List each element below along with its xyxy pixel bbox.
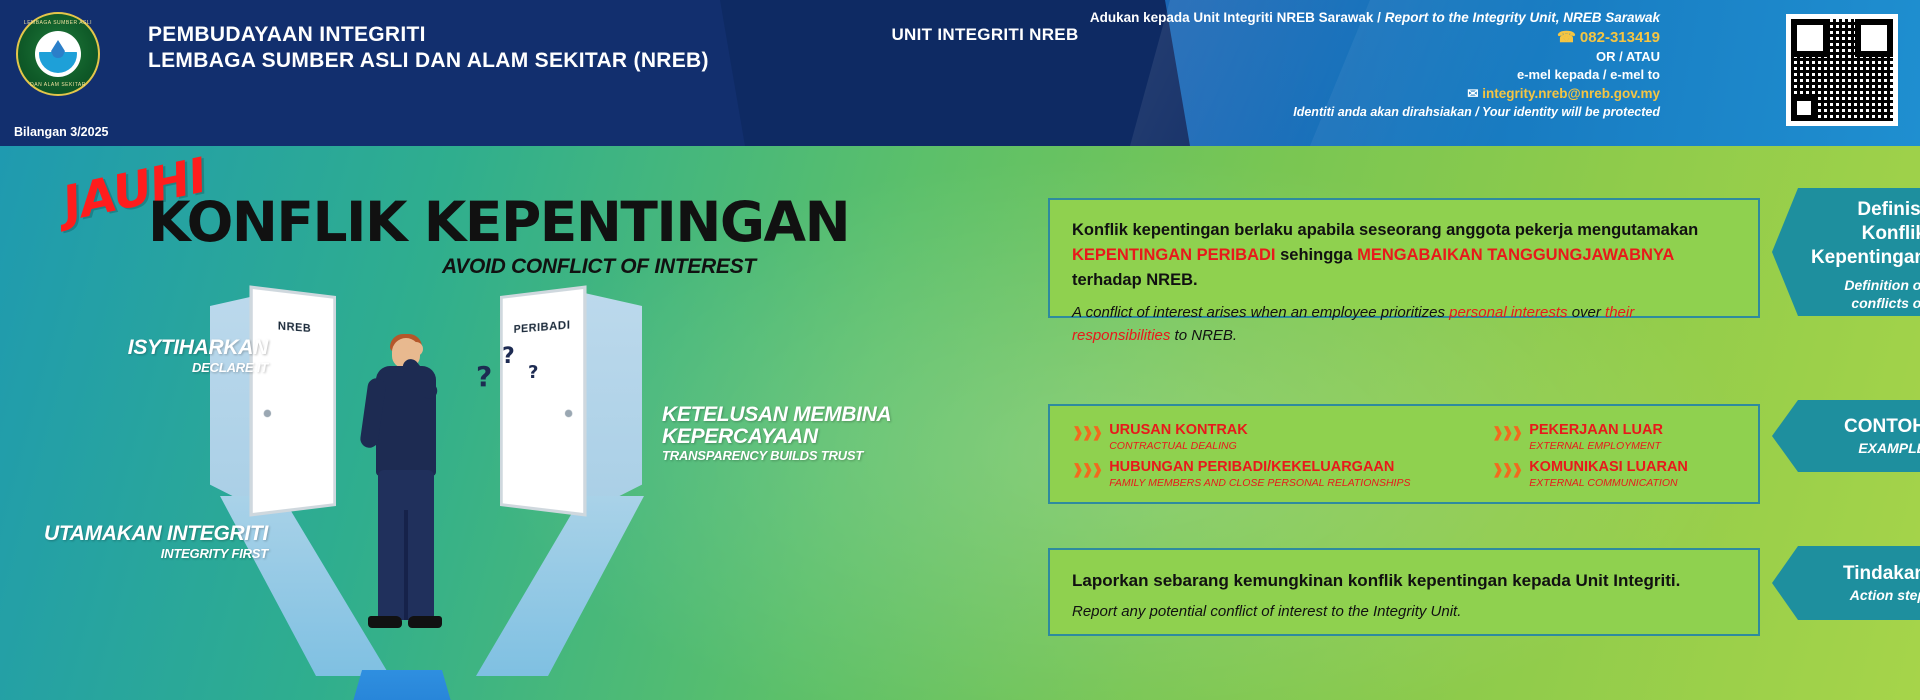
label-declare: ISYTIHARKAN DECLARE IT <box>108 336 268 375</box>
hero-title-my: KONFLIK KEPENTINGAN <box>148 190 849 254</box>
label-integrity-first: UTAMAKAN INTEGRITI INTEGRITY FIRST <box>36 522 268 561</box>
phone-icon: ☎ <box>1557 29 1576 46</box>
definition-text: Konflik kepentingan berlaku apabila sese… <box>1050 200 1758 365</box>
header-title-line2: LEMBAGA SUMBER ASLI DAN ALAM SEKITAR (NR… <box>148 48 709 74</box>
logo-inner-emblem <box>35 31 81 77</box>
header-bar: LEMBAGA SUMBER ASLI DAN ALAM SEKITAR PEM… <box>0 0 1920 146</box>
report-line: Adukan kepada Unit Integriti NREB Sarawa… <box>1040 8 1660 27</box>
question-mark-2: ? <box>502 344 515 369</box>
contact-block: Adukan kepada Unit Integriti NREB Sarawa… <box>1040 8 1660 121</box>
definition-my-part3: terhadap NREB. <box>1072 271 1198 289</box>
definition-en-highlight1: personal interests <box>1449 304 1567 321</box>
report-label-my: Adukan kepada Unit Integriti NREB Sarawa… <box>1090 10 1381 25</box>
header-title-line1: PEMBUDAYAAN INTEGRITI <box>148 22 709 48</box>
email-label: e-mel kepada / e-mel to <box>1040 66 1660 84</box>
definition-en-part3: to NREB. <box>1170 327 1237 344</box>
qr-finder-bottom-left <box>1791 95 1817 121</box>
tab-example-en: EXAMPLE <box>1806 439 1920 457</box>
label-integrity-first-my: UTAMAKAN INTEGRITI <box>36 522 268 546</box>
qr-code[interactable] <box>1786 14 1898 126</box>
header-title-group: PEMBUDAYAAN INTEGRITI LEMBAGA SUMBER ASL… <box>148 22 709 74</box>
example-item-4-my: KOMUNIKASI LUARAN <box>1529 459 1688 476</box>
definition-en-part1: A conflict of interest arises when an em… <box>1072 304 1449 321</box>
phone-line[interactable]: ☎ 082-313419 <box>1040 27 1660 48</box>
door-panel-right <box>580 292 642 516</box>
examples-grid: ❱❱❱ URUSAN KONTRAK CONTRACTUAL DEALING ❱… <box>1050 406 1758 490</box>
door-peribadi: PERIBADI <box>500 285 587 516</box>
definition-my-part2: sehingga <box>1276 246 1358 264</box>
chevrons-icon: ❱❱❱ <box>1072 422 1101 440</box>
label-transparency: KETELUSAN MEMBINA KEPERCAYAAN TRANSPAREN… <box>662 404 922 463</box>
tab-example: CONTOH EXAMPLE <box>1772 400 1920 472</box>
definition-my-part1: Konflik kepentingan berlaku apabila sese… <box>1072 221 1698 239</box>
confidentiality-note: Identiti anda akan dirahsiakan / Your id… <box>1040 103 1660 121</box>
label-transparency-en: TRANSPARENCY BUILDS TRUST <box>662 448 922 463</box>
tab-action-my: Tindakan <box>1806 562 1920 586</box>
water-drop-icon <box>51 40 65 58</box>
door-label-peribadi: PERIBADI <box>503 318 583 337</box>
report-label-en: Report to the Integrity Unit, NREB Saraw… <box>1385 10 1660 25</box>
definition-my-highlight2: MENGABAIKAN TANGGUNGJAWABNYA <box>1357 246 1674 264</box>
definition-my: Konflik kepentingan berlaku apabila sese… <box>1072 218 1736 293</box>
example-item-3-en: FAMILY MEMBERS AND CLOSE PERSONAL RELATI… <box>1109 476 1410 490</box>
door-label-nreb: NREB <box>253 318 333 337</box>
hero-title-en: AVOID CONFLICT OF INTEREST <box>442 255 756 279</box>
definition-my-highlight1: KEPENTINGAN PERIBADI <box>1072 246 1276 264</box>
envelope-icon: ✉ <box>1467 86 1478 101</box>
tab-action: Tindakan Action step <box>1772 546 1920 620</box>
examples-box: ❱❱❱ URUSAN KONTRAK CONTRACTUAL DEALING ❱… <box>1048 404 1760 504</box>
label-declare-my: ISYTIHARKAN <box>108 336 268 360</box>
qr-code-pattern <box>1791 19 1893 121</box>
door-knob-right-icon <box>565 410 572 418</box>
question-mark-3: ? <box>528 362 538 383</box>
example-item-2-en: EXTERNAL EMPLOYMENT <box>1529 439 1663 453</box>
person-legs <box>378 470 434 620</box>
poster-root: LEMBAGA SUMBER ASLI DAN ALAM SEKITAR PEM… <box>0 0 1920 700</box>
example-item-3: ❱❱❱ HUBUNGAN PERIBADI/KEKELUARGAAN FAMIL… <box>1072 459 1472 490</box>
chevrons-icon: ❱❱❱ <box>1492 459 1521 477</box>
example-item-4-texts: KOMUNIKASI LUARAN EXTERNAL COMMUNICATION <box>1529 459 1688 490</box>
phone-number: 082-313419 <box>1580 29 1660 46</box>
label-declare-en: DECLARE IT <box>108 360 268 375</box>
issue-number: Bilangan 3/2025 <box>14 125 109 139</box>
person-figure: ? ? ? <box>350 338 460 658</box>
example-item-1-texts: URUSAN KONTRAK CONTRACTUAL DEALING <box>1109 422 1248 453</box>
tab-definition-my: Definisi Konflik Kepentingan <box>1806 198 1920 270</box>
nreb-logo: LEMBAGA SUMBER ASLI DAN ALAM SEKITAR <box>16 12 100 96</box>
or-label: OR / ATAU <box>1040 48 1660 66</box>
chevrons-icon: ❱❱❱ <box>1492 422 1521 440</box>
action-en: Report any potential conflict of interes… <box>1072 600 1736 624</box>
floor-path-right <box>458 496 648 676</box>
example-item-1-my: URUSAN KONTRAK <box>1109 422 1248 439</box>
question-mark-1: ? <box>476 360 492 393</box>
person-shoe-left <box>368 616 402 628</box>
action-my: Laporkan sebarang kemungkinan konflik ke… <box>1072 568 1736 594</box>
example-item-2-texts: PEKERJAAN LUAR EXTERNAL EMPLOYMENT <box>1529 422 1663 453</box>
example-item-1-en: CONTRACTUAL DEALING <box>1109 439 1248 453</box>
example-item-3-my: HUBUNGAN PERIBADI/KEKELUARGAAN <box>1109 459 1410 476</box>
tab-definition: Definisi Konflik Kepentingan Definition … <box>1772 188 1920 316</box>
example-item-4: ❱❱❱ KOMUNIKASI LUARAN EXTERNAL COMMUNICA… <box>1492 459 1736 490</box>
logo-ring-top-text: LEMBAGA SUMBER ASLI <box>18 20 98 26</box>
email-address: integrity.nreb@nreb.gov.my <box>1482 86 1660 101</box>
email-line[interactable]: ✉ integrity.nreb@nreb.gov.my <box>1040 84 1660 103</box>
definition-box: Konflik kepentingan berlaku apabila sese… <box>1048 198 1760 318</box>
example-item-2-my: PEKERJAAN LUAR <box>1529 422 1663 439</box>
person-shoe-right <box>408 616 442 628</box>
label-integrity-first-en: INTEGRITY FIRST <box>36 546 268 561</box>
example-item-2: ❱❱❱ PEKERJAAN LUAR EXTERNAL EMPLOYMENT <box>1492 422 1736 453</box>
person-hand <box>408 342 423 356</box>
definition-en-part2: over <box>1568 304 1606 321</box>
illustration: NREB PERIBADI ? ? ? <box>200 280 670 700</box>
action-box: Laporkan sebarang kemungkinan konflik ke… <box>1048 548 1760 636</box>
action-text: Laporkan sebarang kemungkinan konflik ke… <box>1050 550 1758 642</box>
example-item-4-en: EXTERNAL COMMUNICATION <box>1529 476 1688 490</box>
example-item-1: ❱❱❱ URUSAN KONTRAK CONTRACTUAL DEALING <box>1072 422 1472 453</box>
door-knob-left-icon <box>264 410 271 418</box>
tab-example-my: CONTOH <box>1806 415 1920 439</box>
door-nreb: NREB <box>249 285 336 516</box>
chevrons-icon: ❱❱❱ <box>1072 459 1101 477</box>
example-item-3-texts: HUBUNGAN PERIBADI/KEKELUARGAAN FAMILY ME… <box>1109 459 1410 490</box>
logo-ring-bottom-text: DAN ALAM SEKITAR <box>18 82 98 88</box>
tab-action-en: Action step <box>1806 586 1920 604</box>
definition-en: A conflict of interest arises when an em… <box>1072 301 1736 347</box>
label-transparency-my: KETELUSAN MEMBINA KEPERCAYAAN <box>662 404 922 448</box>
